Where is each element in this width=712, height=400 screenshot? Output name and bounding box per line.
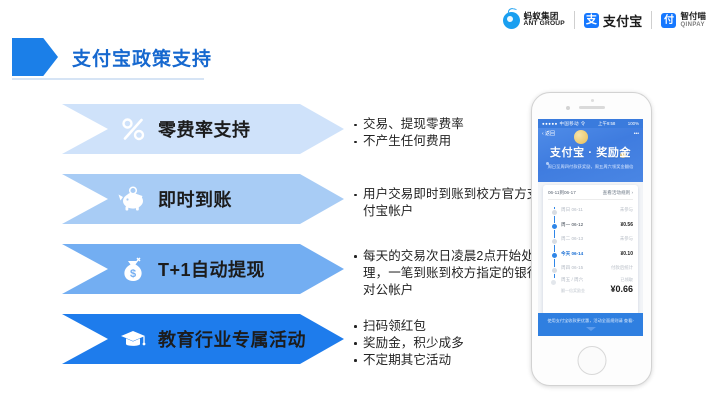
- total-day-label: 周五 / 周六: [561, 277, 583, 283]
- graduation-cap-icon: [116, 322, 150, 356]
- more-button[interactable]: •••: [634, 131, 639, 137]
- chevron-label-2: T+1自动提现: [158, 256, 265, 282]
- timeline-bead-icon: [551, 238, 558, 245]
- bullet-list-0: 交易、提现零费率 不产生任何费用: [354, 98, 544, 168]
- status-carrier: ●●●●● 中国移动 令: [542, 121, 586, 127]
- reward-card: 06-11到06-17 查看活动规则 › 周日 06-11 未参与 周一 06-…: [543, 185, 638, 315]
- earpiece-speaker-icon: [579, 106, 605, 109]
- activity-rules-link[interactable]: 查看活动规则 ›: [603, 190, 633, 196]
- ant-group-mark-icon: [503, 12, 520, 29]
- bullet-item: 每天的交易次日凌晨2点开始处理，一笔到账到校方指定的银行对公帐户: [354, 248, 544, 299]
- total-note: 翻一倍奖励金: [561, 288, 585, 294]
- chevron-banner-1[interactable]: 即时到账: [62, 174, 344, 224]
- front-camera-icon: [566, 106, 570, 110]
- chevron-banner-3[interactable]: 教育行业专属活动: [62, 314, 344, 364]
- timeline-day: 周一 06-12: [561, 222, 583, 228]
- logo-ant-group: 蚂蚁集团 ANT GROUP: [503, 12, 565, 29]
- date-range-label: 06-11到06-17: [548, 190, 576, 196]
- timeline-day: 周日 06-11: [561, 207, 583, 213]
- home-button[interactable]: [577, 346, 606, 375]
- proximity-sensor-icon: [591, 99, 594, 102]
- phone-earpiece-area: [532, 93, 651, 119]
- percent-icon: [116, 112, 150, 146]
- timeline-row: 周四 06-15 付款后统计: [548, 261, 633, 276]
- timeline-bead-icon: [551, 209, 558, 216]
- timeline-row: 周日 06-11 未参与: [548, 203, 633, 218]
- bullet-item: 用户交易即时到账到校方官方支付宝帐户: [354, 186, 544, 220]
- qinpay-name-en: QINPAY: [680, 22, 706, 28]
- title-arrow-icon: [12, 38, 58, 76]
- timeline-amount: 未参与: [620, 236, 633, 242]
- bullet-item: 扫码领红包: [354, 318, 544, 335]
- chevron-label-3: 教育行业专属活动: [158, 326, 306, 352]
- total-amount: ¥0.66: [610, 284, 633, 294]
- timeline-day: 周二 06-13: [561, 236, 583, 242]
- timeline-amount: 付款后统计: [611, 265, 633, 271]
- app-nav-bar: ‹ 返回 •••: [538, 128, 643, 139]
- phone-chin: [532, 336, 651, 385]
- bullet-list-1: 用户交易即时到账到校方官方支付宝帐户: [354, 168, 544, 238]
- brand-logo-bar: 蚂蚁集团 ANT GROUP 支 支付宝 付 智付喵 QINPAY: [470, 6, 706, 34]
- chevron-down-icon: [586, 327, 596, 331]
- timeline-bead-icon: [551, 267, 558, 274]
- logo-qinpay: 付 智付喵 QINPAY: [661, 12, 706, 28]
- chevron-label-1: 即时到账: [158, 186, 232, 212]
- total-status: 已领取: [620, 277, 633, 283]
- slide-title-row: 支付宝政策支持: [12, 38, 212, 76]
- bullet-list-2: 每天的交易次日凌晨2点开始处理，一笔到账到校方指定的银行对公帐户: [354, 238, 544, 308]
- timeline-day: 今天 06-14: [561, 251, 583, 257]
- qinpay-mark-icon: 付: [661, 13, 676, 28]
- status-bar: ●●●●● 中国移动 令 上午9:58 100%: [538, 119, 643, 128]
- page-title: 支付宝政策支持: [72, 44, 212, 71]
- reward-card-header: 06-11到06-17 查看活动规则 ›: [548, 190, 633, 200]
- ant-group-name-en: ANT GROUP: [524, 21, 565, 28]
- bullet-list-3: 扫码领红包 奖励金，积少成多 不定期其它活动: [354, 308, 544, 378]
- phone-mockup: ●●●●● 中国移动 令 上午9:58 100% ‹ 返回 ••• 支付宝 · …: [531, 92, 652, 386]
- timeline-bead-icon: [551, 252, 558, 259]
- piggy-bank-icon: [116, 182, 150, 216]
- timeline-row: 周二 06-13 未参与: [548, 232, 633, 247]
- timeline-amount: ¥0.10: [620, 251, 633, 257]
- chevron-banner-2[interactable]: $ T+1自动提现: [62, 244, 344, 294]
- qinpay-name-cn: 智付喵: [680, 12, 706, 21]
- timeline-day: 周四 06-15: [561, 265, 583, 271]
- app-footer-text: 使用支付宝收款更优惠，活动全面规则请 查看›: [547, 318, 633, 324]
- logo-divider-2: [651, 11, 652, 29]
- back-button[interactable]: ‹ 返回: [542, 130, 555, 137]
- ant-group-name-cn: 蚂蚁集团: [524, 12, 565, 21]
- chevron-banner-0[interactable]: 零费率支持: [62, 104, 344, 154]
- logo-divider-1: [574, 11, 575, 29]
- bullet-item: 不定期其它活动: [354, 352, 544, 369]
- status-battery: 100%: [628, 121, 639, 126]
- bullet-item: 奖励金，积少成多: [354, 335, 544, 352]
- title-underline: [12, 78, 204, 80]
- alipay-mark-icon: 支: [584, 13, 599, 28]
- reward-timeline: 周日 06-11 未参与 周一 06-12 ¥0.56 周二 06-13 未参与…: [548, 203, 633, 294]
- logo-alipay: 支 支付宝: [584, 11, 643, 30]
- chevron-label-0: 零费率支持: [158, 116, 251, 142]
- app-hero-title: 支付宝 · 奖励金: [538, 144, 643, 160]
- timeline-row: 周一 06-12 ¥0.56: [548, 218, 633, 233]
- app-hero-subtitle: 周日至周四付款获奖励，周五周六领奖金翻倍: [538, 164, 643, 170]
- app-hero-banner: ‹ 返回 ••• 支付宝 · 奖励金 周日至周四付款获奖励，周五周六领奖金翻倍: [538, 128, 643, 182]
- timeline-amount: ¥0.56: [620, 222, 633, 228]
- timeline-bead-icon: [551, 280, 556, 285]
- status-time: 上午9:58: [598, 121, 615, 127]
- bullet-item: 不产生任何费用: [354, 133, 544, 150]
- alipay-name-cn: 支付宝: [603, 11, 643, 30]
- timeline-bead-icon: [551, 223, 558, 230]
- svg-text:$: $: [130, 268, 136, 280]
- money-bag-icon: $: [116, 252, 150, 286]
- timeline-amount: 未参与: [620, 207, 633, 213]
- bullet-item: 交易、提现零费率: [354, 116, 544, 133]
- app-footer-bar[interactable]: 使用支付宝收款更优惠，活动全面规则请 查看›: [538, 313, 643, 336]
- timeline-row-today: 今天 06-14 ¥0.10: [548, 247, 633, 262]
- phone-screen: ●●●●● 中国移动 令 上午9:58 100% ‹ 返回 ••• 支付宝 · …: [538, 119, 643, 336]
- timeline-total-row: 周五 / 周六 已领取 翻一倍奖励金 ¥0.66: [548, 277, 633, 294]
